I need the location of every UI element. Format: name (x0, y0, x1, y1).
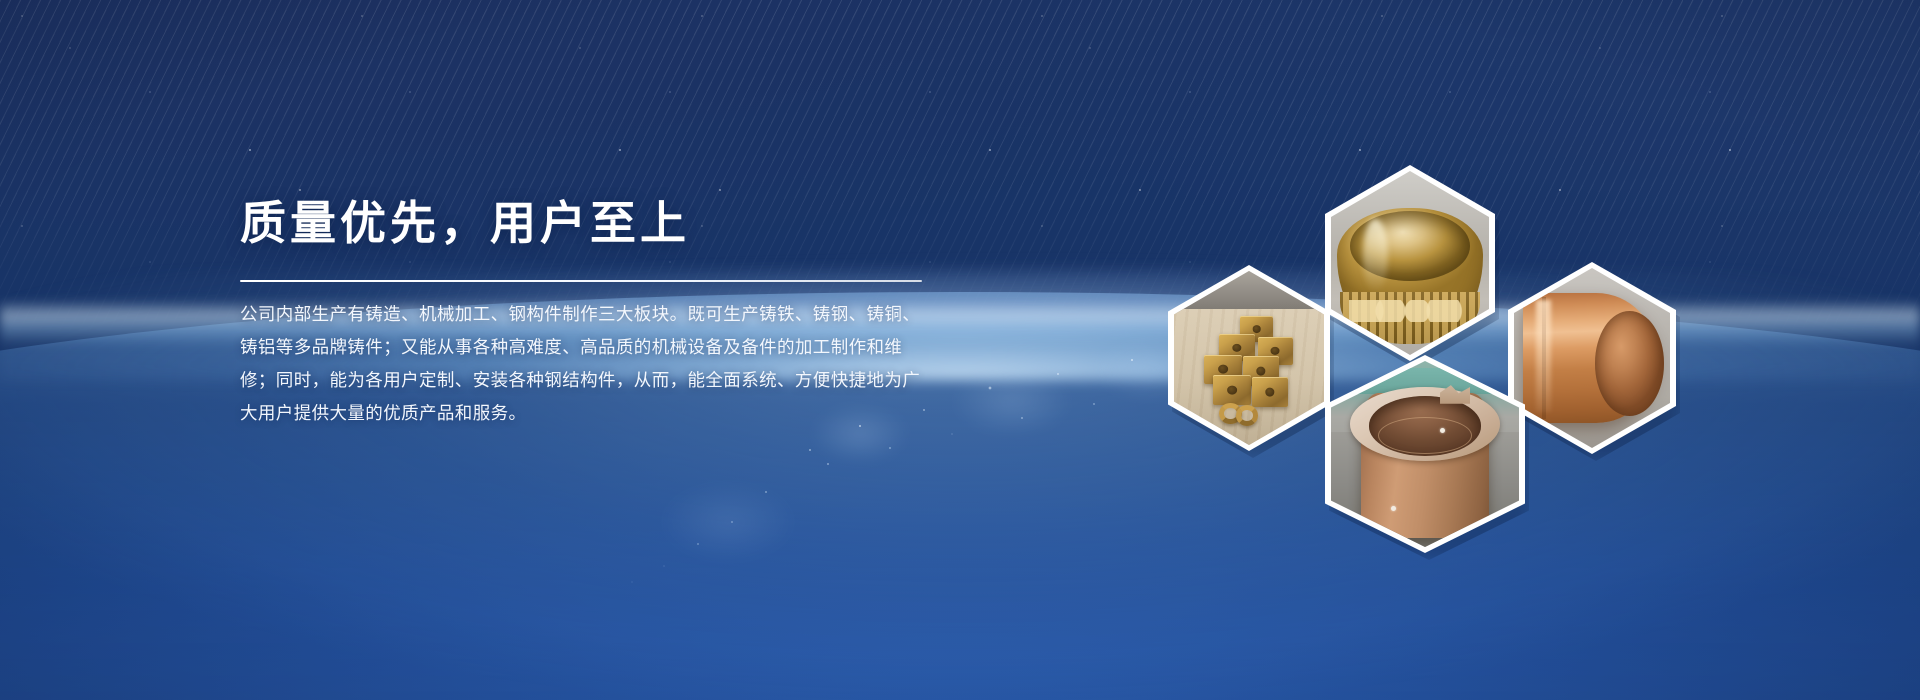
hex-inner-brass-ornate-bowl (1331, 171, 1489, 355)
headline-divider (240, 280, 922, 282)
description-line-2: 铸铝等多品牌铸件；又能从事各种高难度、高品质的机械设备及备件的加工制作和维 (240, 337, 958, 358)
hero-banner: 质量优先，用户至上 公司内部生产有铸造、机械加工、钢构件制作三大板块。既可生产铸… (0, 0, 1920, 700)
photo-copper-cylinder-sleeve (1514, 268, 1670, 448)
banner-headline: 质量优先，用户至上 (240, 196, 980, 250)
photo-backdrop (1174, 271, 1324, 313)
product-hexagon-gallery (1150, 150, 1690, 560)
bushing-inner-ring (1378, 417, 1472, 454)
bowl-highlight (1363, 219, 1388, 293)
photo-bronze-bushing (1331, 361, 1519, 547)
banner-copy-block: 质量优先，用户至上 公司内部生产有铸造、机械加工、钢构件制作三大板块。既可生产铸… (240, 196, 980, 424)
description-line-3: 修；同时，能为各用户定制、安装各种钢结构件，从而，能全面系统、方便快捷地为广 (240, 370, 958, 391)
description-line-1: 公司内部生产有铸造、机械加工、钢构件制作三大板块。既可生产铸铁、铸钢、铸铜、 (240, 304, 958, 325)
brass-block (1213, 375, 1251, 405)
cylinder-highlight (1536, 300, 1552, 412)
photo-brass-machined-blocks (1174, 271, 1324, 445)
banner-description: 公司内部生产有铸造、机械加工、钢构件制作三大板块。既可生产铸铁、铸钢、铸铜、 铸… (240, 304, 958, 424)
description-line-4: 大用户提供大量的优质产品和服务。 (240, 403, 958, 424)
hex-inner-brass-machined-blocks (1174, 271, 1324, 445)
hex-inner-bronze-bushing (1331, 361, 1519, 547)
cylinder-end-face (1595, 311, 1664, 415)
hex-inner-copper-cylinder-sleeve (1514, 268, 1670, 448)
photo-brass-ornate-bowl (1331, 171, 1489, 355)
brass-ring (1236, 405, 1259, 426)
brass-block (1252, 377, 1288, 407)
bushing-pin-hole (1440, 428, 1445, 433)
